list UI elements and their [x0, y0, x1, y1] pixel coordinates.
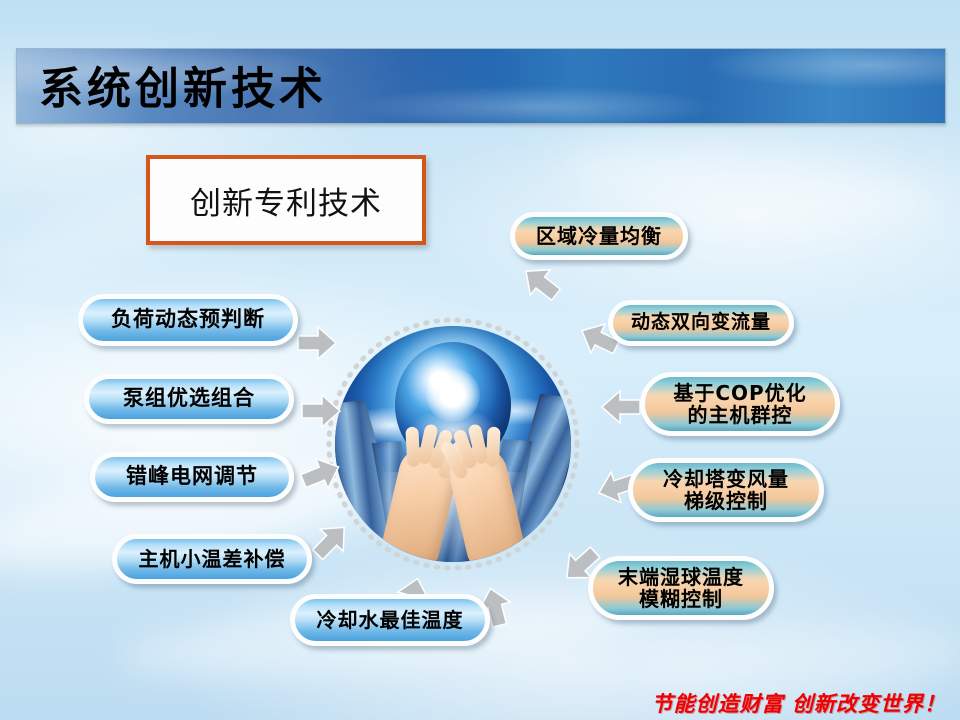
node-cooling-tower[interactable]: 冷却塔变风量 梯级控制 [628, 458, 824, 522]
footer-slogan: 节能创造财富 创新改变世界！ [652, 688, 946, 718]
node-label: 动态双向变流量 [623, 312, 779, 333]
node-cooling-water[interactable]: 冷却水最佳温度 [290, 594, 490, 646]
node-label: 泵组优选组合 [99, 387, 279, 411]
globe-hands-image [335, 326, 571, 562]
node-bi-dir-flow[interactable]: 动态双向变流量 [608, 300, 794, 346]
node-pump-group[interactable]: 泵组优选组合 [84, 374, 294, 424]
node-cop-group[interactable]: 基于COP优化 的主机群控 [640, 372, 840, 436]
page-title: 系统创新技术 [39, 53, 327, 117]
arrow-left-icon [600, 388, 642, 426]
node-label-line2: 梯级控制 [643, 490, 809, 512]
node-label-line1: 末端湿球温度 [603, 566, 759, 588]
slide-canvas: 系统创新技术 创新专利技术 [0, 0, 960, 720]
center-graphic [322, 313, 584, 575]
node-chiller-delta-t[interactable]: 主机小温差补偿 [112, 534, 312, 584]
node-label-line1: 冷却塔变风量 [643, 468, 809, 490]
callout-label: 创新专利技术 [150, 159, 422, 241]
node-label-line1: 基于COP优化 [655, 382, 825, 404]
node-wet-bulb[interactable]: 末端湿球温度 模糊控制 [588, 556, 774, 620]
node-label: 区域冷量均衡 [525, 225, 673, 247]
arrow-right-icon [300, 392, 342, 430]
node-zone-balance[interactable]: 区域冷量均衡 [510, 212, 688, 260]
callout-box: 创新专利技术 [146, 155, 426, 245]
node-label: 冷却水最佳温度 [305, 609, 475, 631]
arrow-left-icon [513, 255, 569, 311]
node-label: 主机小温差补偿 [127, 548, 297, 570]
node-label: 负荷动态预判断 [93, 308, 283, 332]
arrow-right-icon [296, 324, 338, 362]
node-label-line2: 模糊控制 [603, 588, 759, 610]
node-label-line2: 的主机群控 [655, 404, 825, 426]
node-load-forecast[interactable]: 负荷动态预判断 [78, 294, 298, 346]
node-grid-peak[interactable]: 错峰电网调节 [90, 452, 294, 502]
title-banner: 系统创新技术 [16, 48, 946, 124]
node-label: 错峰电网调节 [105, 465, 279, 489]
